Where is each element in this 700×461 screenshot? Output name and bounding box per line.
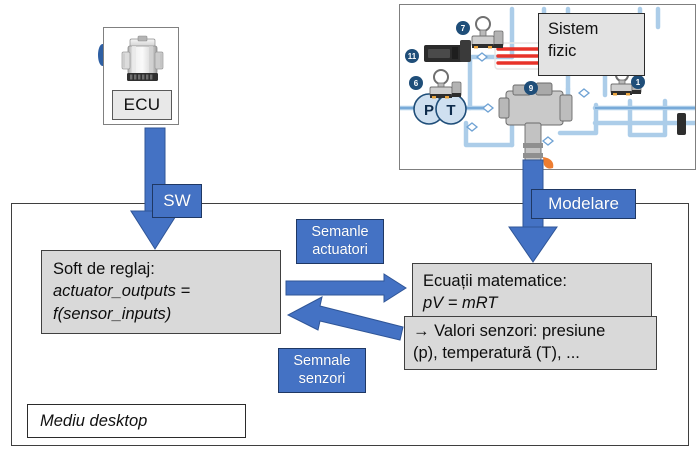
control-software-line3: f(sensor_inputs) — [53, 303, 280, 325]
ecu-unit: ECU — [103, 27, 179, 125]
svg-text:6: 6 — [414, 79, 419, 88]
label-sensor-signals-line1: Semnale — [293, 353, 350, 371]
math-model-heading: Ecuații matematice: — [423, 270, 651, 292]
label-sensor-signals: Semnale senzori — [278, 348, 366, 393]
label-actuator-signals: Semanle actuatori — [296, 219, 384, 264]
sistem-fizic-line2: fizic — [548, 41, 644, 63]
svg-text:1: 1 — [636, 78, 641, 87]
label-actuator-signals-line1: Semanle — [311, 224, 368, 242]
sensor-values-box: → Valori senzori: presiune (p), temperat… — [404, 316, 657, 370]
math-model-box: Ecuații matematice: pV = mRT — [412, 263, 652, 321]
diagram-canvas: ECU — [0, 0, 700, 461]
svg-text:11: 11 — [408, 52, 417, 61]
sensor-values-line2: (p), temperatură (T), ... — [413, 343, 656, 365]
temperature-sensor-badge: T — [436, 94, 466, 124]
svg-text:T: T — [446, 102, 455, 119]
ecu-label: ECU — [112, 90, 172, 120]
math-model-equation: pV = mRT — [423, 292, 651, 314]
sensor-values-line1: → Valori senzori: presiune — [413, 321, 656, 343]
control-software-box: Soft de reglaj: actuator_outputs = f(sen… — [41, 250, 281, 334]
sistem-fizic-callout: Sistem fizic — [538, 13, 645, 76]
label-sensor-signals-line2: senzori — [299, 371, 346, 389]
label-modelare: Modelare — [531, 189, 636, 219]
ecu-module-icon — [115, 33, 171, 89]
label-actuator-signals-line2: actuatori — [312, 242, 368, 260]
control-software-heading: Soft de reglaj: — [53, 258, 280, 280]
sistem-fizic-line1: Sistem — [548, 19, 644, 41]
label-sw: SW — [152, 184, 202, 218]
sensor-block-icon — [677, 113, 686, 135]
environment-label-box: Mediu desktop — [27, 404, 246, 438]
svg-text:9: 9 — [529, 84, 534, 93]
svg-text:7: 7 — [461, 24, 466, 33]
svg-text:P: P — [424, 102, 434, 119]
control-software-line2: actuator_outputs = — [53, 280, 280, 302]
